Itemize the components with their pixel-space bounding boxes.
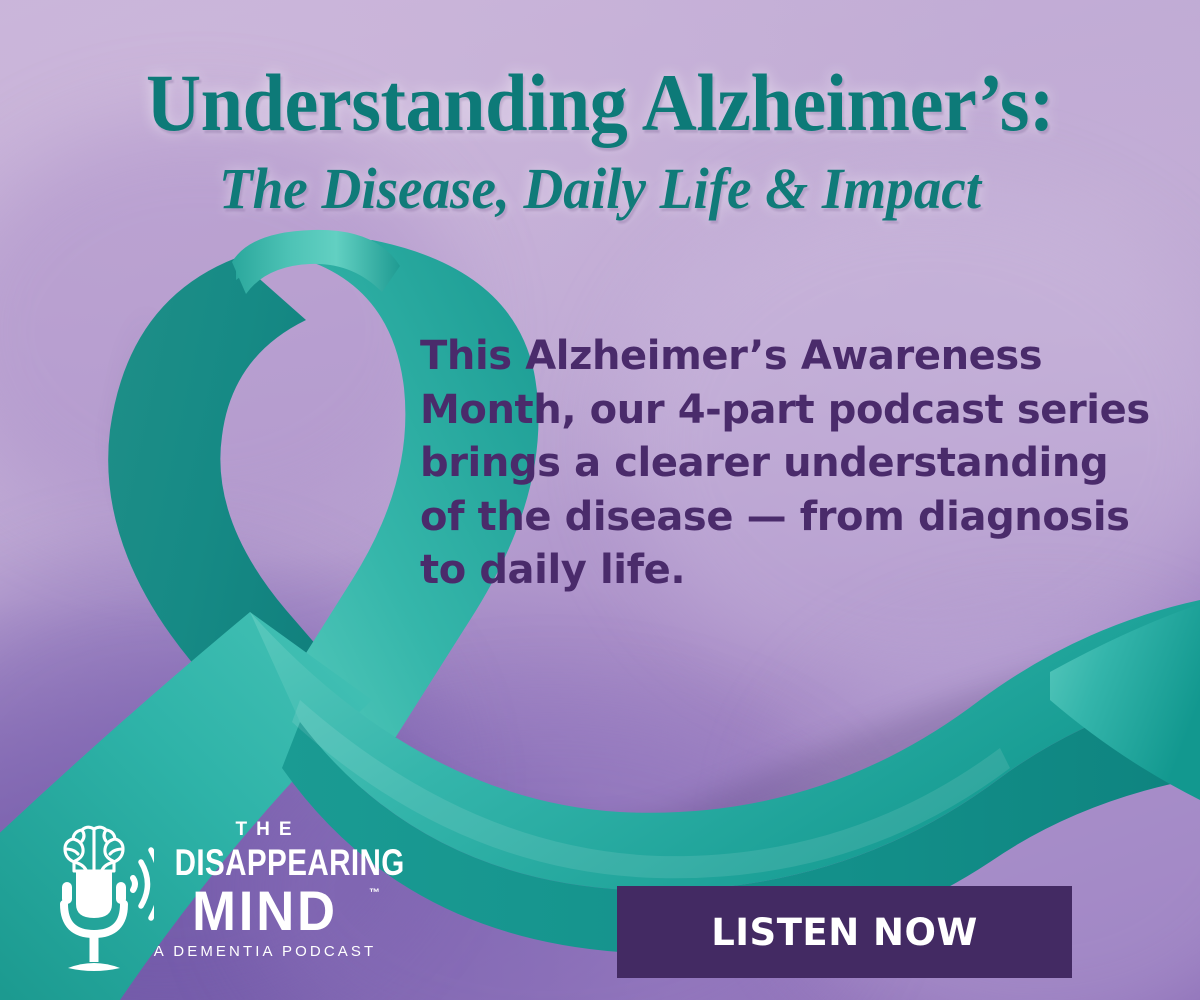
sound-wave-dot [133,878,135,890]
sound-wave-arc [141,862,148,906]
podcast-logo[interactable]: THE DISAPPEARING MIND ™ A DEMENTIA PODCA… [34,818,374,986]
body-copy-line: This Alzheimer’s Awareness [420,330,1120,384]
logo-the: THE [158,820,378,839]
body-copy-line: of the disease — from diagnosis [420,491,1120,545]
headline-block: Understanding Alzheimer’s: The Disease, … [0,62,1200,218]
body-copy: This Alzheimer’s Awareness Month, our 4-… [420,330,1120,598]
brain-microphone-icon [34,818,154,986]
logo-mind-row: MIND ™ [152,883,378,939]
page-subtitle: The Disease, Daily Life & Impact [30,160,1170,218]
logo-tagline: A DEMENTIA PODCAST [152,944,378,959]
logo-mind: MIND [159,883,371,939]
listen-now-button[interactable]: LISTEN NOW [617,886,1072,978]
body-copy-line: to daily life. [420,544,1120,598]
logo-disappearing: DISAPPEARING [175,844,356,881]
page-title: Understanding Alzheimer’s: [42,62,1158,144]
body-copy-line: Month, our 4-part podcast series [420,384,1120,438]
trademark-symbol: ™ [369,887,380,899]
listen-now-label: LISTEN NOW [711,911,978,954]
body-copy-line: brings a clearer understanding [420,437,1120,491]
logo-wordmark: THE DISAPPEARING MIND ™ A DEMENTIA PODCA… [152,820,378,959]
promo-banner: Understanding Alzheimer’s: The Disease, … [0,0,1200,1000]
